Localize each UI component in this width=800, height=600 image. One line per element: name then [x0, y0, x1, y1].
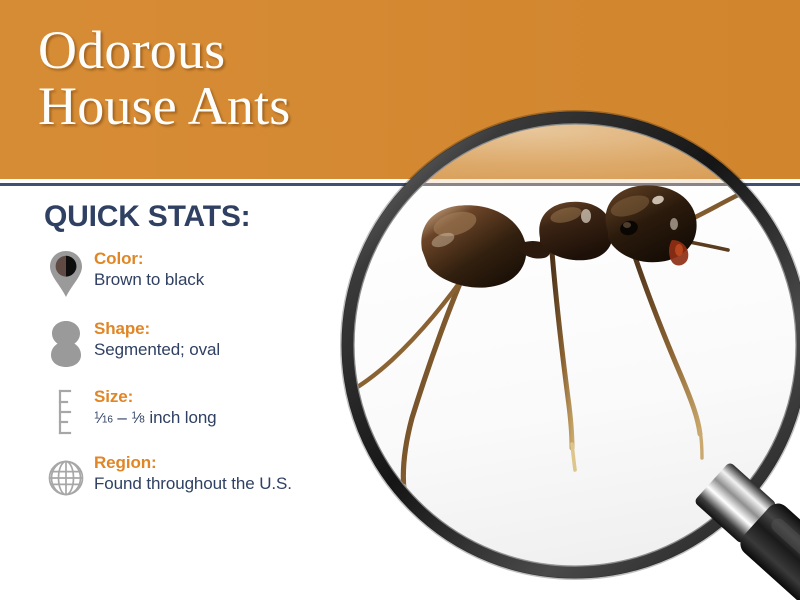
stat-label-shape: Shape: [94, 319, 220, 339]
stat-row-color: Color: Brown to black [40, 246, 350, 302]
stat-value-size: 1⁄16 – 1⁄8 inch long [94, 407, 217, 429]
frac-numerator-1: 1 [94, 411, 99, 422]
segmented-oval-shape-icon [40, 316, 92, 372]
frac-numerator-2: 1 [131, 411, 136, 422]
infographic-root: Odorous House Ants [0, 0, 800, 600]
stat-value-region: Found throughout the U.S. [94, 473, 292, 494]
stat-value-shape: Segmented; oval [94, 339, 220, 360]
size-unit-suffix: inch long [145, 408, 217, 427]
frac-denominator-16: 16 [102, 415, 113, 426]
stat-label-region: Region: [94, 453, 292, 473]
fraction-one-sixteenth: 1⁄16 [94, 410, 113, 429]
ruler-scale-icon [40, 384, 92, 440]
stat-label-color: Color: [94, 249, 204, 269]
stat-text-color: Color: Brown to black [92, 246, 204, 290]
quick-stats-panel: QUICK STATS: Color: Brown to black [0, 188, 350, 600]
stat-row-shape: Shape: Segmented; oval [40, 316, 350, 372]
fraction-one-eighth: 1⁄8 [131, 410, 144, 429]
stat-value-color: Brown to black [94, 269, 204, 290]
quick-stats-heading: QUICK STATS: [44, 200, 250, 234]
map-pin-color-swatch-icon [40, 246, 92, 302]
page-title: Odorous House Ants [38, 22, 398, 134]
stat-text-shape: Shape: Segmented; oval [92, 316, 220, 360]
stat-row-size: Size: 1⁄16 – 1⁄8 inch long [40, 384, 350, 440]
stat-label-size: Size: [94, 387, 217, 407]
stat-text-region: Region: Found throughout the U.S. [92, 450, 292, 494]
globe-icon [40, 450, 92, 506]
size-range-separator: – [113, 408, 132, 427]
stat-row-region: Region: Found throughout the U.S. [40, 450, 350, 506]
stat-text-size: Size: 1⁄16 – 1⁄8 inch long [92, 384, 217, 429]
